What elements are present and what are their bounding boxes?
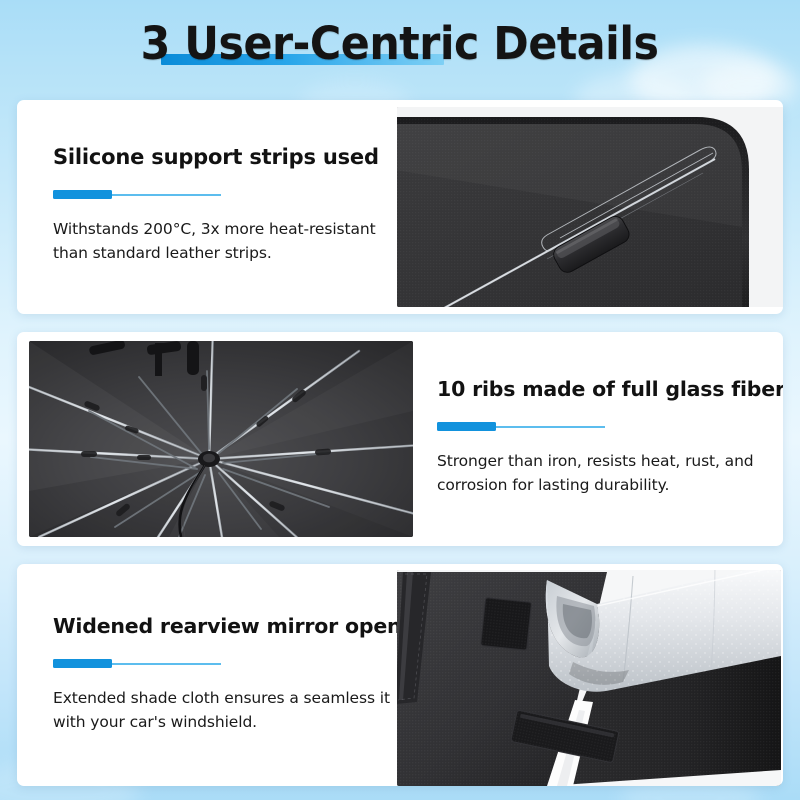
feature-card-title: Silicone support strips used bbox=[53, 145, 397, 169]
feature-card-text-block: Widened rearview mirror opening Extended… bbox=[17, 564, 397, 786]
accent-divider bbox=[53, 659, 221, 668]
divider-thick-segment bbox=[53, 659, 112, 668]
feature-card-body: Extended shade cloth ensures a seamless … bbox=[53, 687, 397, 734]
feature-card-glass-fiber-ribs: 10 ribs made of full glass fiber Stronge… bbox=[17, 332, 783, 546]
silicone-support-strip-photo bbox=[397, 107, 783, 307]
page-title-wrapper: 3 User-Centric Details bbox=[127, 0, 672, 70]
page-title: 3 User-Centric Details bbox=[141, 17, 659, 70]
feature-card-title: 10 ribs made of full glass fiber bbox=[437, 377, 783, 401]
rearview-mirror-opening-photo bbox=[397, 570, 781, 786]
feature-card-text-block: Silicone support strips used Withstands … bbox=[17, 100, 397, 314]
feature-card-text-block: 10 ribs made of full glass fiber Stronge… bbox=[413, 332, 783, 546]
glass-fiber-ribs-photo bbox=[29, 341, 413, 537]
feature-card-rearview-mirror-opening: Widened rearview mirror opening Extended… bbox=[17, 564, 783, 786]
feature-card-body: Withstands 200°C, 3x more heat-resistant… bbox=[53, 218, 397, 265]
product-feature-page: 3 User-Centric Details Silicone support … bbox=[0, 0, 800, 800]
feature-card-silicone-support-strips: Silicone support strips used Withstands … bbox=[17, 100, 783, 314]
divider-thick-segment bbox=[437, 422, 496, 431]
accent-divider bbox=[437, 422, 605, 431]
umbrella-ribs-illustration bbox=[29, 341, 413, 537]
silicone-strip-illustration bbox=[397, 107, 783, 307]
feature-card-title: Widened rearview mirror opening bbox=[53, 614, 397, 638]
page-header: 3 User-Centric Details bbox=[0, 0, 800, 100]
divider-thick-segment bbox=[53, 190, 112, 199]
mirror-opening-illustration bbox=[397, 570, 781, 786]
feature-card-body: Stronger than iron, resists heat, rust, … bbox=[437, 450, 783, 497]
accent-divider bbox=[53, 190, 221, 199]
